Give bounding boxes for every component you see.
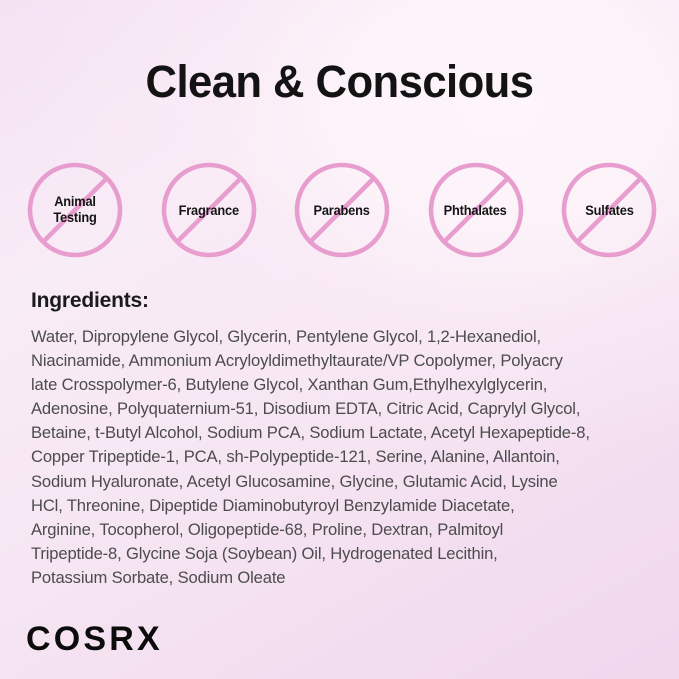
ingredients-line: Potassium Sorbate, Sodium Oleate	[31, 566, 647, 590]
free-from-badge: Sulfates	[559, 160, 659, 260]
ingredients-line: Niacinamide, Ammonium Acryloyldimethylta…	[31, 349, 647, 373]
ingredients-line: Tripeptide-8, Glycine Soja (Soybean) Oil…	[31, 542, 647, 566]
free-from-badge-label: Sulfates	[585, 203, 633, 218]
free-from-badge: Parabens	[292, 160, 392, 260]
clean-conscious-infographic: Clean & Conscious Animal TestingFragranc…	[0, 0, 679, 679]
page-title: Clean & Conscious	[10, 56, 669, 108]
free-from-badge: Fragrance	[159, 160, 259, 260]
free-from-badge-label: Phthalates	[444, 203, 507, 218]
ingredients-line: Copper Tripeptide-1, PCA, sh-Polypeptide…	[31, 445, 647, 469]
ingredients-line: Betaine, t-Butyl Alcohol, Sodium PCA, So…	[31, 421, 647, 445]
free-from-badge: Phthalates	[426, 160, 526, 260]
free-from-badge-label: Animal Testing	[31, 194, 118, 226]
ingredients-line: Sodium Hyaluronate, Acetyl Glucosamine, …	[31, 470, 647, 494]
free-from-badge-label: Fragrance	[178, 203, 238, 218]
ingredients-line: Arginine, Tocopherol, Oligopeptide-68, P…	[31, 518, 647, 542]
free-from-badge: Animal Testing	[25, 160, 125, 260]
ingredients-line: late Crosspolymer-6, Butylene Glycol, Xa…	[31, 373, 647, 397]
free-from-badge-row: Animal TestingFragranceParabensPhthalate…	[25, 160, 659, 260]
ingredients-line: Water, Dipropylene Glycol, Glycerin, Pen…	[31, 325, 647, 349]
ingredients-line: Adenosine, Polyquaternium-51, Disodium E…	[31, 397, 647, 421]
ingredients-list: Water, Dipropylene Glycol, Glycerin, Pen…	[31, 325, 647, 590]
ingredients-line: HCl, Threonine, Dipeptide Diaminobutyroy…	[31, 494, 647, 518]
cosrx-logo: COSRX	[26, 620, 163, 658]
ingredients-heading: Ingredients:	[31, 288, 149, 314]
free-from-badge-label: Parabens	[314, 203, 370, 218]
